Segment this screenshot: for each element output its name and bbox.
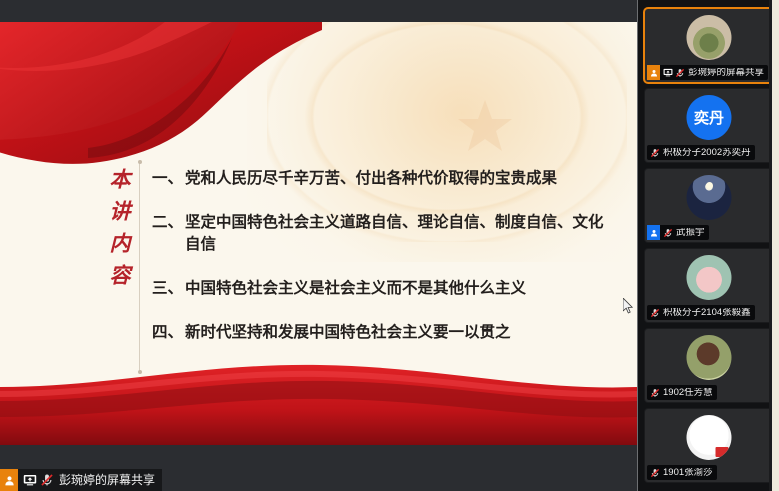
- screen-share-presenter-name: 彭琬婷的屏幕共享: [59, 474, 155, 486]
- letterbox-top: [0, 0, 637, 22]
- status-icons: [660, 228, 676, 238]
- slide-outline-list: 一、 党和人民历尽千辛万苦、付出各种代价取得的宝贵成果 二、 坚定中国特色社会主…: [152, 168, 607, 366]
- list-item-text: 坚定中国特色社会主义道路自信、理论自信、制度自信、文化自信: [185, 212, 607, 256]
- red-flag-decoration: [0, 22, 322, 176]
- avatar: [687, 335, 732, 380]
- status-icons: [647, 468, 663, 478]
- list-item: 二、 坚定中国特色社会主义道路自信、理论自信、制度自信、文化自信: [152, 212, 607, 256]
- mic-muted-icon: [650, 388, 660, 398]
- mic-muted-icon: [663, 228, 673, 238]
- avatar: 奕丹: [687, 95, 732, 140]
- window-right-edge: [772, 0, 779, 491]
- status-icons: [647, 148, 663, 158]
- list-item-number: 二、: [152, 212, 183, 234]
- participant-label: 1902任芳慧: [647, 385, 717, 400]
- avatar: [687, 415, 732, 460]
- list-item-number: 一、: [152, 168, 183, 190]
- meeting-screen-share-window: 本讲内容 一、 党和人民历尽千辛万苦、付出各种代价取得的宝贵成果 二、 坚定中国…: [0, 0, 779, 491]
- participant-label: 积极分子2002苏奕丹: [647, 145, 755, 160]
- list-item-text: 党和人民历尽千辛万苦、付出各种代价取得的宝贵成果: [185, 168, 607, 190]
- mic-muted-icon: [40, 473, 54, 487]
- mic-muted-icon: [650, 308, 660, 318]
- list-item-text: 中国特色社会主义是社会主义而不是其他什么主义: [185, 278, 607, 300]
- presentation-slide: 本讲内容 一、 党和人民历尽千辛万苦、付出各种代价取得的宝贵成果 二、 坚定中国…: [0, 22, 637, 445]
- participant-label: 积极分子2104张毅鑫: [647, 305, 755, 320]
- participant-label: 彭琬婷的屏幕共享: [647, 65, 768, 80]
- screen-share-name-strip: 彭琬婷的屏幕共享: [0, 469, 162, 491]
- mic-muted-icon: [650, 468, 660, 478]
- participant-tile[interactable]: 彭琬婷的屏幕共享: [645, 9, 773, 82]
- mic-muted-icon: [675, 68, 685, 78]
- participant-name: 积极分子2104张毅鑫: [663, 308, 751, 318]
- status-icons: [647, 388, 663, 398]
- list-item: 一、 党和人民历尽千辛万苦、付出各种代价取得的宝贵成果: [152, 168, 607, 190]
- participant-tile[interactable]: 积极分子2104张毅鑫: [645, 249, 773, 322]
- avatar: [687, 255, 732, 300]
- participant-name: 武振宇: [676, 228, 705, 238]
- participant-name: 1902任芳慧: [663, 388, 713, 398]
- shared-screen-area[interactable]: 本讲内容 一、 党和人民历尽千辛万苦、付出各种代价取得的宝贵成果 二、 坚定中国…: [0, 0, 637, 491]
- slide-vertical-title: 本讲内容: [99, 168, 129, 296]
- share-status-icons: [18, 473, 59, 487]
- participant-tile[interactable]: 奕丹 积极分子2002苏奕丹: [645, 89, 773, 162]
- list-item-number: 三、: [152, 278, 183, 300]
- participant-label: 武振宇: [647, 225, 709, 240]
- person-icon: [647, 65, 660, 80]
- list-item: 三、 中国特色社会主义是社会主义而不是其他什么主义: [152, 278, 607, 300]
- screen-share-icon: [23, 474, 37, 486]
- status-icons: [660, 68, 688, 78]
- moon-shape: [706, 182, 713, 189]
- screen-share-icon: [663, 68, 673, 77]
- slide-divider-rule: [139, 163, 140, 371]
- mouse-cursor: [623, 298, 634, 314]
- participant-name: 积极分子2002苏奕丹: [663, 148, 751, 158]
- participant-tile[interactable]: 1901张渝莎: [645, 409, 773, 482]
- participant-name: 1901张渝莎: [663, 468, 713, 478]
- participant-label: 1901张渝莎: [647, 465, 717, 480]
- person-icon: [0, 469, 18, 491]
- list-item: 四、 新时代坚持和发展中国特色社会主义要一以贯之: [152, 322, 607, 344]
- list-item-text: 新时代坚持和发展中国特色社会主义要一以贯之: [185, 322, 607, 344]
- status-icons: [647, 308, 663, 318]
- person-icon: [647, 225, 660, 240]
- red-wave-decoration: [0, 357, 637, 445]
- list-item-number: 四、: [152, 322, 183, 344]
- participant-name: 彭琬婷的屏幕共享: [688, 68, 764, 78]
- participant-tile[interactable]: 1902任芳慧: [645, 329, 773, 402]
- avatar: [687, 175, 732, 220]
- star-watermark: [455, 97, 515, 155]
- participants-panel[interactable]: 彭琬婷的屏幕共享 奕丹 积极分子2002苏奕丹: [637, 0, 779, 491]
- mic-muted-icon: [650, 148, 660, 158]
- participant-tile[interactable]: 武振宇: [645, 169, 773, 242]
- avatar: [687, 15, 732, 60]
